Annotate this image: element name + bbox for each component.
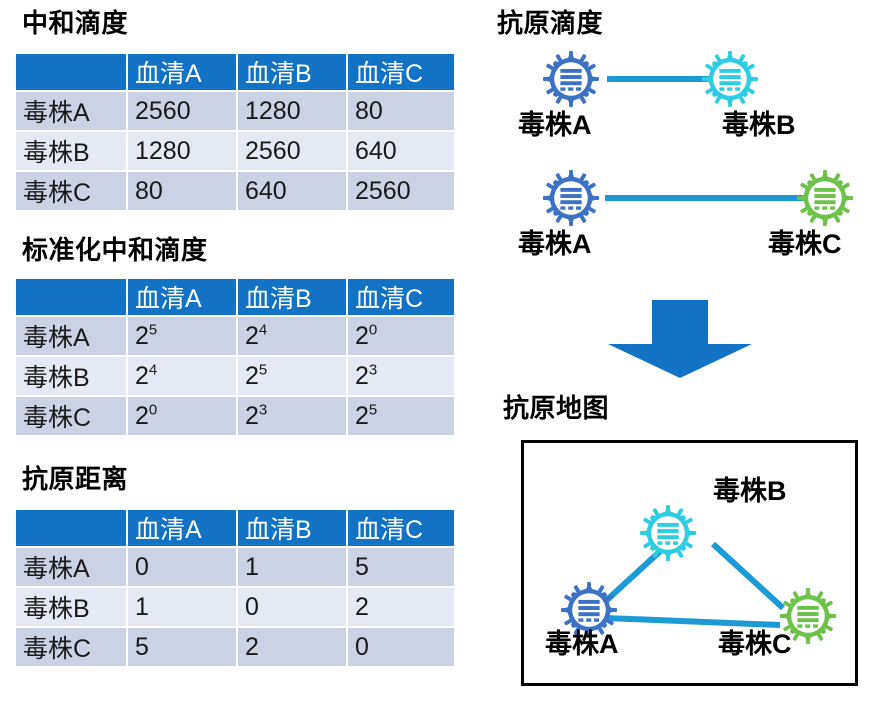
cell-a-serum-b: 24 (238, 317, 346, 355)
link-line-a-c (605, 195, 805, 201)
cell-c-serum-a: 5 (128, 628, 236, 666)
table-row: 毒株A 2560 1280 80 (16, 92, 454, 130)
table-header-row: 血清A 血清B 血清C (16, 279, 454, 315)
row-header-strain-a: 毒株A (16, 548, 126, 586)
row-header-strain-c: 毒株C (16, 397, 126, 435)
cell-b-serum-b: 25 (238, 357, 346, 395)
neutralization-titer-title: 中和滴度 (22, 10, 128, 36)
antigenic-titer-title: 抗原滴度 (497, 10, 603, 36)
row-header-strain-b: 毒株B (16, 588, 126, 626)
table-row: 毒株B 24 25 23 (16, 357, 454, 395)
virus-icon-strain-c-1 (797, 170, 853, 226)
neutralization-titer-table: 血清A 血清B 血清C 毒株A 2560 1280 80 毒株B 1280 25… (14, 52, 456, 212)
virus-label-strain-b-1: 毒株B (722, 112, 796, 139)
row-header-strain-b: 毒株B (16, 132, 126, 170)
table-row: 毒株A 0 1 5 (16, 548, 454, 586)
antigenic-distance-title: 抗原距离 (22, 466, 128, 492)
row-header-strain-a: 毒株A (16, 92, 126, 130)
column-header-corner (16, 54, 126, 90)
column-header-serum-a: 血清A (128, 54, 236, 90)
row-header-strain-c: 毒株C (16, 172, 126, 210)
normalized-titer-title: 标准化中和滴度 (22, 237, 208, 263)
table-header-row: 血清A 血清B 血清C (16, 510, 454, 546)
cell-b-serum-c: 2 (348, 588, 454, 626)
cell-a-serum-b: 1 (238, 548, 346, 586)
virus-icon (640, 505, 696, 561)
virus-icon-strain-a-1 (543, 51, 599, 107)
table-row: 毒株C 20 23 25 (16, 397, 454, 435)
cell-a-serum-a: 2560 (128, 92, 236, 130)
column-header-serum-c: 血清C (348, 510, 454, 546)
cell-b-serum-a: 1280 (128, 132, 236, 170)
table-row: 毒株C 5 2 0 (16, 628, 454, 666)
cell-b-serum-a: 1 (128, 588, 236, 626)
virus-icon (543, 51, 599, 107)
virus-label-strain-a-2: 毒株A (518, 231, 592, 258)
virus-icon (702, 51, 758, 107)
column-header-corner (16, 510, 126, 546)
normalized-titer-table: 血清A 血清B 血清C 毒株A 25 24 20 毒株B 24 25 23 毒株… (14, 277, 456, 437)
virus-icon (797, 170, 853, 226)
cell-c-serum-a: 20 (128, 397, 236, 435)
virus-label-strain-c-1: 毒株C (768, 231, 842, 258)
row-header-strain-b: 毒株B (16, 357, 126, 395)
column-header-serum-c: 血清C (348, 54, 454, 90)
cell-a-serum-a: 0 (128, 548, 236, 586)
cell-b-serum-c: 640 (348, 132, 454, 170)
virus-icon-strain-a-2 (543, 170, 599, 226)
cell-b-serum-c: 23 (348, 357, 454, 395)
cell-a-serum-a: 25 (128, 317, 236, 355)
cell-c-serum-c: 0 (348, 628, 454, 666)
virus-icon (543, 170, 599, 226)
virus-label-strain-a-1: 毒株A (518, 112, 592, 139)
down-arrow-icon (600, 300, 760, 378)
map-edge-a-c (606, 618, 780, 625)
cell-b-serum-b: 2560 (238, 132, 346, 170)
cell-a-serum-b: 1280 (238, 92, 346, 130)
column-header-serum-b: 血清B (238, 510, 346, 546)
column-header-serum-b: 血清B (238, 279, 346, 315)
cell-b-serum-a: 24 (128, 357, 236, 395)
column-header-serum-a: 血清A (128, 510, 236, 546)
cell-c-serum-a: 80 (128, 172, 236, 210)
map-label-strain-b: 毒株B (713, 478, 787, 505)
cell-c-serum-c: 2560 (348, 172, 454, 210)
cell-c-serum-c: 25 (348, 397, 454, 435)
table-row: 毒株C 80 640 2560 (16, 172, 454, 210)
row-header-strain-c: 毒株C (16, 628, 126, 666)
cell-b-serum-b: 0 (238, 588, 346, 626)
tables-panel: 中和滴度 血清A 血清B 血清C 毒株A 2560 1280 80 毒株B 12… (0, 0, 470, 716)
down-arrow (600, 300, 760, 378)
column-header-corner (16, 279, 126, 315)
map-label-strain-c: 毒株C (718, 631, 792, 658)
map-label-strain-a: 毒株A (545, 631, 619, 658)
table-row: 毒株A 25 24 20 (16, 317, 454, 355)
antigenic-distance-table: 血清A 血清B 血清C 毒株A 0 1 5 毒株B 1 0 2 毒株C 5 2 (14, 508, 456, 668)
cell-a-serum-c: 80 (348, 92, 454, 130)
table-row: 毒株B 1 0 2 (16, 588, 454, 626)
virus-icon-strain-b-1 (702, 51, 758, 107)
cell-c-serum-b: 23 (238, 397, 346, 435)
column-header-serum-c: 血清C (348, 279, 454, 315)
table-row: 毒株B 1280 2560 640 (16, 132, 454, 170)
antigenic-map-title: 抗原地图 (503, 395, 609, 421)
row-header-strain-a: 毒株A (16, 317, 126, 355)
column-header-serum-a: 血清A (128, 279, 236, 315)
column-header-serum-b: 血清B (238, 54, 346, 90)
cell-c-serum-b: 2 (238, 628, 346, 666)
virus-icon-map-strain-b (640, 505, 696, 561)
cell-c-serum-b: 640 (238, 172, 346, 210)
map-edge-b-c (713, 544, 783, 608)
cell-a-serum-c: 20 (348, 317, 454, 355)
cell-a-serum-c: 5 (348, 548, 454, 586)
table-header-row: 血清A 血清B 血清C (16, 54, 454, 90)
